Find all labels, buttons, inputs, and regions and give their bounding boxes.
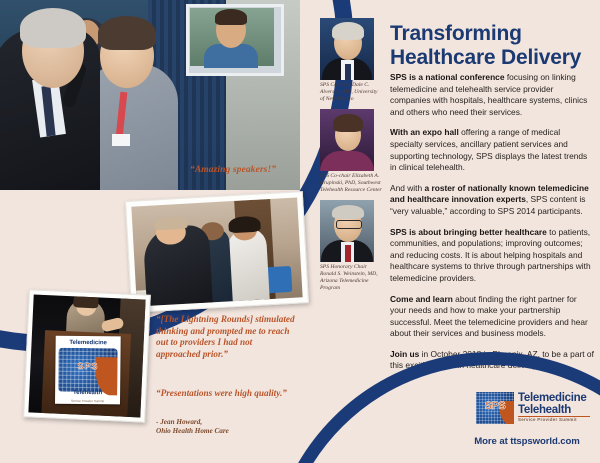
paragraph-lead: SPS is a national conference [390,72,505,82]
footer-url[interactable]: More at ttspsworld.com [462,436,592,447]
headshot-hair [332,22,364,40]
sps-logo-telemedicine: Telemedicine [518,392,586,404]
testimonial-amazing-speakers: “Amazing speakers!” [190,165,320,175]
headshot-alverson-image [320,18,374,80]
headshot-alverson: SPS Co-chair Dale C. Alverson, MD, Unive… [320,18,374,103]
headshot-krupinski: SPS Co-chair Elizabeth A. Krupinski, PhD… [320,109,374,194]
headshot-alverson-caption: SPS Co-chair Dale C. Alverson, MD, Unive… [320,82,382,103]
body-copy: SPS is a national conference focusing on… [390,72,595,381]
paragraph-prefix: And with [390,183,424,193]
expo-man-hair [154,217,188,231]
paragraph-better-healthcare: SPS is about bringing better healthcare … [390,227,595,285]
sps-logo-tagline: Service Provider Summit [518,417,577,422]
podium-speaker-photo-image: Telemedicine SPS Telehealth Service Prov… [28,295,145,418]
paragraph-lead: SPS is about bringing better healthcare [390,227,547,237]
paragraph-lead: With an expo hall [390,127,459,137]
podium-sps-banner: Telemedicine SPS Telehealth Service Prov… [55,336,121,405]
headshot-krupinski-caption: SPS Co-chair Elizabeth A. Krupinski, PhD… [320,173,382,194]
page-title-line-1: Transforming [390,22,600,46]
headshot-jacket [320,151,374,171]
paragraph-national-conference: SPS is a national conference focusing on… [390,72,595,118]
sps-logo-telehealth: Telehealth [518,404,571,416]
paragraph-come-and-learn: Come and learn about finding the right p… [390,294,595,340]
headshot-weinstein-image [320,200,374,262]
paragraph-roster-experts: And with a roster of nationally known te… [390,183,595,218]
sps-banner-telehealth: Telehealth [55,390,120,397]
sps-banner-telemedicine: Telemedicine [55,340,120,347]
headshot-hair [332,205,364,219]
sps-logo-acronym: SPS [476,400,514,412]
eyeglasses-icon [336,220,362,229]
podium-speaker-hair [74,295,99,309]
expo-hall-photo-image [131,197,302,306]
headshot-tie [345,245,351,262]
headshot-tie [345,64,351,80]
sps-banner-tagline: Service Provider Summit [55,399,120,404]
podium-speaker-photo: Telemedicine SPS Telehealth Service Prov… [23,289,151,422]
headshot-hair [333,114,363,132]
headshot-krupinski-image [320,109,374,171]
page-title: Transforming Healthcare Delivery [390,22,600,70]
expo-hall-photo [125,191,309,313]
headshot-weinstein-caption: SPS Honorary Chair Ronald S. Weinstein, … [320,264,382,292]
page-title-line-2: Healthcare Delivery [390,46,600,70]
headshot-weinstein: SPS Honorary Chair Ronald S. Weinstein, … [320,200,374,292]
paragraph-lead: Come and learn [390,294,453,304]
brochure-page: “Amazing speakers!” [0,0,600,463]
headshot-list: SPS Co-chair Dale C. Alverson, MD, Unive… [320,18,386,296]
expo-woman-hair [228,216,260,234]
sps-banner-acronym: SPS [55,360,120,371]
sps-logo-mark: SPS [476,392,514,424]
sps-logo: SPS Telemedicine Telehealth Service Prov… [476,392,592,426]
paragraph-expo-hall: With an expo hall offering a range of me… [390,127,595,173]
